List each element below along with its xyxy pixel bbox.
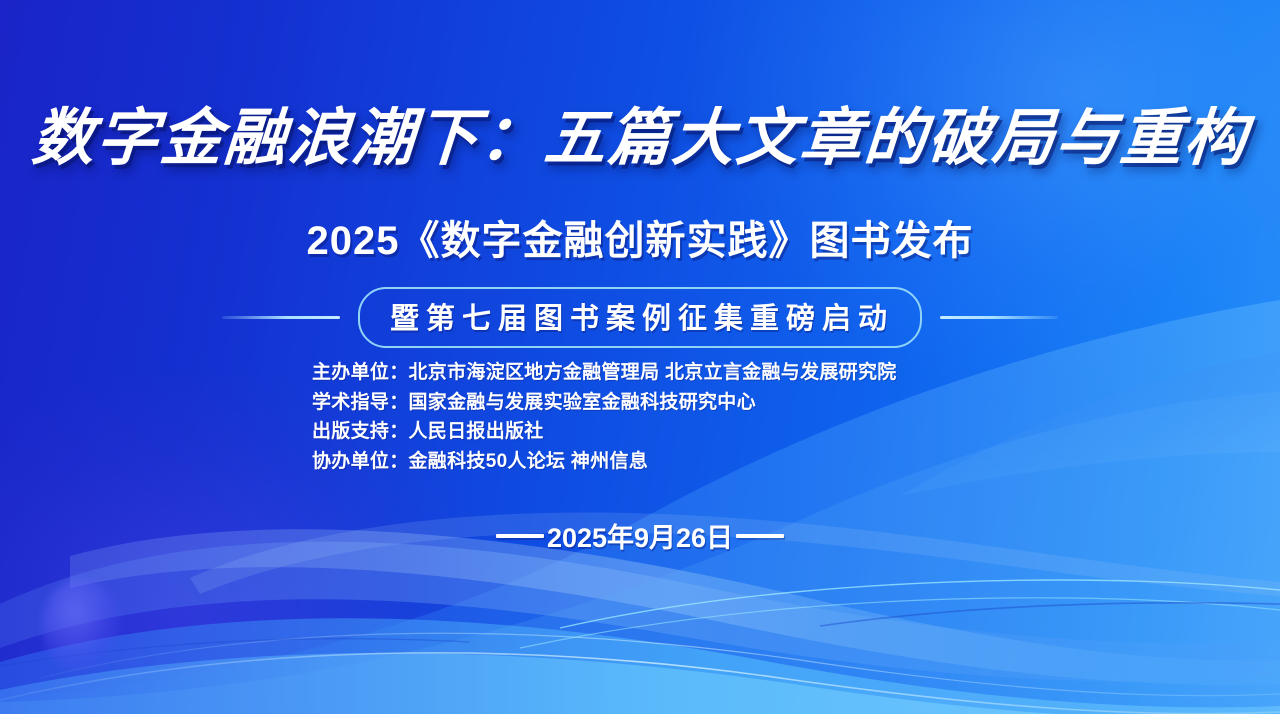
credit-line-co-organizer: 协办单位：金融科技50人论坛 神州信息: [312, 447, 897, 477]
page-title: 数字金融浪潮下：五篇大文章的破局与重构: [0, 106, 1280, 173]
date-dash-left: [496, 534, 544, 538]
credit-line-publishing-support: 出版支持：人民日报出版社: [312, 417, 897, 447]
date-dash-right: [736, 534, 784, 538]
highlight-pill-label: 暨第七届图书案例征集重磅启动: [386, 295, 894, 337]
credit-line-organizer: 主办单位：北京市海淀区地方金融管理局 北京立言金融与发展研究院: [312, 358, 897, 388]
credits-block: 主办单位：北京市海淀区地方金融管理局 北京立言金融与发展研究院 学术指导：国家金…: [312, 358, 897, 476]
date-row: 2025年9月26日: [0, 516, 1280, 555]
highlight-pill: 暨第七届图书案例征集重磅启动: [358, 287, 922, 348]
banner-content: 数字金融浪潮下：五篇大文章的破局与重构 2025《数字金融创新实践》图书发布 暨…: [0, 0, 1280, 714]
event-banner: 数字金融浪潮下：五篇大文章的破局与重构 2025《数字金融创新实践》图书发布 暨…: [0, 0, 1280, 714]
left-rule: [222, 316, 340, 319]
event-date: 2025年9月26日: [547, 516, 733, 555]
right-rule: [940, 316, 1058, 319]
pill-banner-row: 暨第七届图书案例征集重磅启动: [0, 287, 1280, 348]
credit-line-academic-guidance: 学术指导：国家金融与发展实验室金融科技研究中心: [312, 388, 897, 418]
subtitle: 2025《数字金融创新实践》图书发布: [0, 208, 1280, 266]
